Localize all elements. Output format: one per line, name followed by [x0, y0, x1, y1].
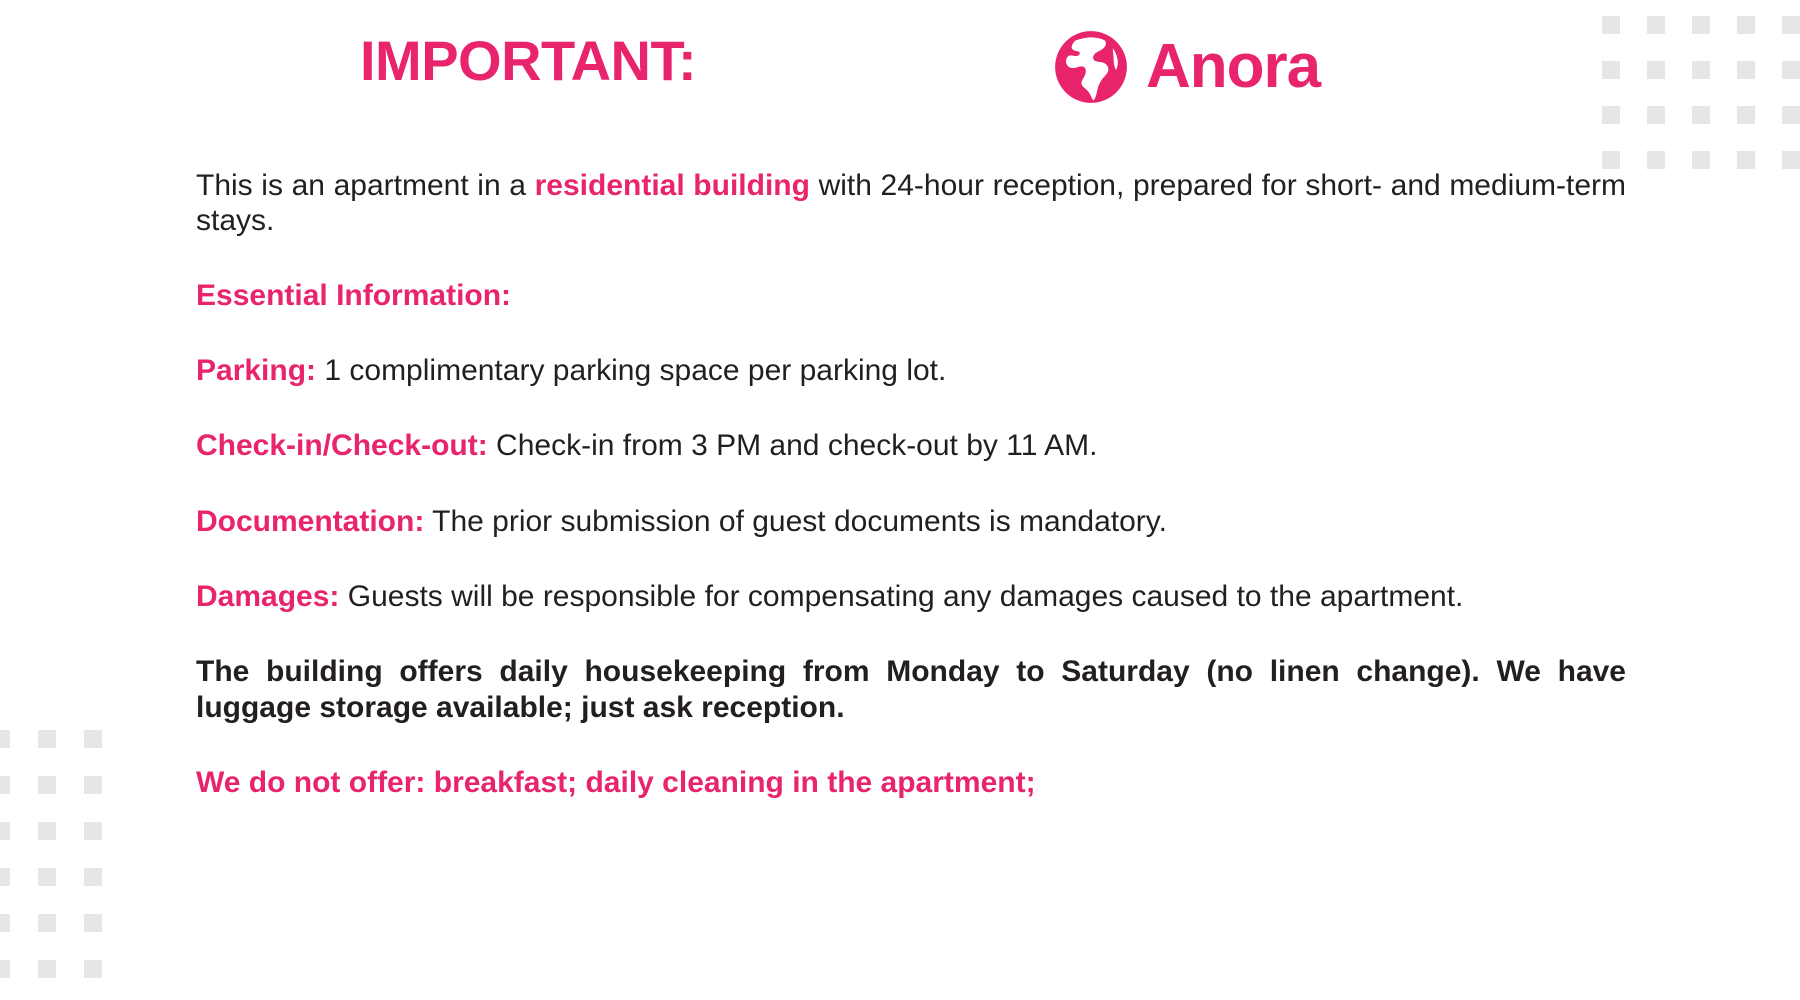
decorative-dot	[0, 868, 10, 886]
decorative-dot	[1737, 151, 1755, 169]
decorative-dot	[0, 960, 10, 978]
intro-paragraph: This is an apartment in a residential bu…	[196, 168, 1626, 239]
decorative-dot	[38, 868, 56, 886]
decorative-dot	[84, 822, 102, 840]
decorative-dot	[38, 914, 56, 932]
spacer	[196, 464, 1626, 504]
info-label-documentation: Documentation:	[196, 505, 424, 538]
decorative-dot-grid-bottom-left	[0, 730, 102, 978]
spacer	[196, 725, 1626, 765]
decorative-dot	[38, 960, 56, 978]
intro-highlight: residential building	[535, 169, 810, 202]
decorative-dot	[1647, 151, 1665, 169]
info-value-checkin-checkout: Check-in from 3 PM and check-out by 11 A…	[488, 429, 1098, 462]
decorative-dot	[84, 868, 102, 886]
info-value-documentation: The prior submission of guest documents …	[424, 505, 1167, 538]
decorative-dot	[1602, 151, 1620, 169]
decorative-dot	[38, 822, 56, 840]
not-offered-line: We do not offer: breakfast; daily cleani…	[196, 765, 1626, 800]
decorative-dot	[1782, 151, 1800, 169]
info-label-parking: Parking:	[196, 354, 316, 387]
brand-name: Anora	[1146, 36, 1320, 98]
decorative-dot	[0, 776, 10, 794]
info-label-damages: Damages:	[196, 580, 339, 613]
info-label-checkin-checkout: Check-in/Check-out:	[196, 429, 488, 462]
spacer	[196, 539, 1626, 579]
info-value-damages: Guests will be responsible for compensat…	[339, 580, 1463, 613]
brand-logo: Anora	[1052, 28, 1320, 106]
info-value-parking: 1 complimentary parking space per parkin…	[316, 354, 946, 387]
decorative-dot	[38, 776, 56, 794]
housekeeping-paragraph: The building offers daily housekeeping f…	[196, 654, 1626, 725]
info-line-damages: Damages: Guests will be responsible for …	[196, 579, 1626, 614]
globe-icon	[1052, 28, 1130, 106]
decorative-dot	[0, 730, 10, 748]
page-header: IMPORTANT: Anora	[0, 0, 1800, 140]
document-body: This is an apartment in a residential bu…	[196, 168, 1626, 801]
decorative-dot	[0, 914, 10, 932]
spacer	[196, 614, 1626, 654]
info-line-documentation: Documentation: The prior submission of g…	[196, 504, 1626, 539]
spacer	[196, 313, 1626, 353]
decorative-dot	[84, 776, 102, 794]
decorative-dot	[84, 960, 102, 978]
spacer	[196, 388, 1626, 428]
info-line-checkin-checkout: Check-in/Check-out: Check-in from 3 PM a…	[196, 428, 1626, 463]
intro-text-part1: This is an apartment in a	[196, 169, 535, 202]
info-line-parking: Parking: 1 complimentary parking space p…	[196, 353, 1626, 388]
spacer	[196, 239, 1626, 279]
essential-information-heading: Essential Information:	[196, 279, 1626, 313]
decorative-dot	[84, 914, 102, 932]
page-title: IMPORTANT:	[360, 28, 696, 93]
decorative-dot	[38, 730, 56, 748]
decorative-dot	[0, 822, 10, 840]
decorative-dot	[1692, 151, 1710, 169]
decorative-dot	[84, 730, 102, 748]
